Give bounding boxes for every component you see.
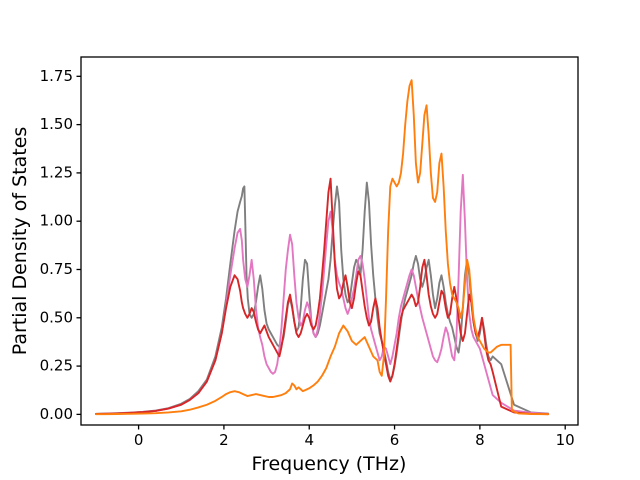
y-tick-label: 1.50 xyxy=(40,115,73,133)
y-tick-label: 0.50 xyxy=(40,308,73,326)
y-tick-label: 1.75 xyxy=(40,67,73,85)
figure-background xyxy=(0,0,640,480)
matplotlib-figure: 02468100.000.250.500.751.001.251.501.75 … xyxy=(0,0,640,480)
y-axis-title: Partial Density of States xyxy=(9,127,31,356)
y-tick-label: 0.25 xyxy=(40,357,73,375)
y-tick-label: 0.00 xyxy=(40,405,73,423)
y-tick-label: 1.25 xyxy=(40,163,73,181)
chart-canvas: 02468100.000.250.500.751.001.251.501.75 … xyxy=(0,0,640,480)
x-tick-label: 2 xyxy=(219,431,229,449)
y-tick-label: 1.00 xyxy=(40,212,73,230)
y-tick-label: 0.75 xyxy=(40,260,73,278)
x-tick-label: 10 xyxy=(556,431,575,449)
x-tick-label: 0 xyxy=(134,431,144,449)
x-tick-label: 4 xyxy=(304,431,314,449)
x-axis-title: Frequency (THz) xyxy=(252,453,407,475)
x-tick-label: 6 xyxy=(390,431,400,449)
x-tick-label: 8 xyxy=(475,431,485,449)
